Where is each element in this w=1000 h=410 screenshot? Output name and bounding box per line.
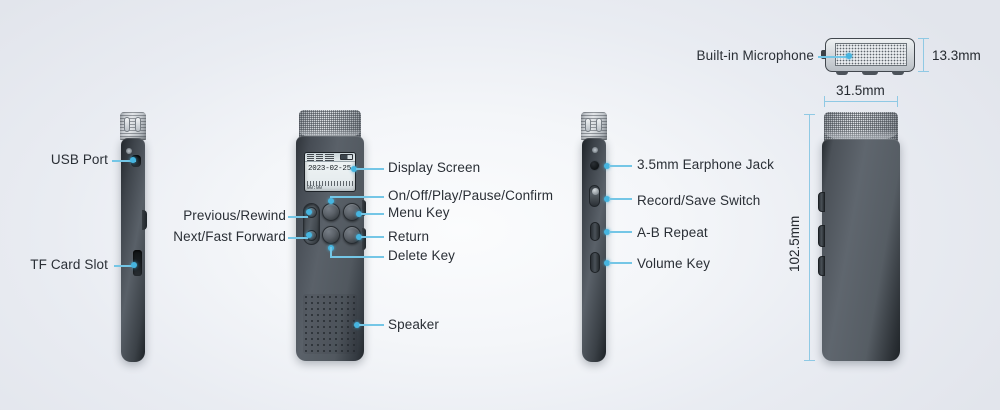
leader-power-horizontal <box>330 196 384 198</box>
label-previous-rewind: Previous/Rewind <box>182 209 286 224</box>
width-dim-line <box>824 101 898 102</box>
left-cap-slot-b <box>135 117 141 132</box>
earphone-jack[interactable] <box>589 160 600 171</box>
label-record-save-switch: Record/Save Switch <box>637 194 760 209</box>
height-dim-tick-top <box>804 114 815 115</box>
back-view-key-volume <box>818 225 825 247</box>
display-footer-text: 00:00 <box>307 185 322 191</box>
right-view-top-cap <box>581 112 607 140</box>
ab-repeat-key[interactable] <box>590 222 600 241</box>
leader-ab-repeat <box>609 231 632 233</box>
height-dim-tick-bottom <box>804 360 815 361</box>
label-built-in-microphone: Built-in Microphone <box>690 49 814 64</box>
right-view-indicator-led-icon <box>592 147 598 153</box>
microphone-shell <box>825 38 915 72</box>
height-dim-value: 102.5mm <box>787 216 802 272</box>
leader-delete-horizontal <box>330 256 384 258</box>
dot-built-in-microphone <box>846 53 852 59</box>
label-earphone-jack: 3.5mm Earphone Jack <box>637 158 774 173</box>
dot-tf-card-slot <box>131 262 137 268</box>
battery-icon <box>340 154 353 160</box>
leader-previous-rewind <box>288 216 308 218</box>
leader-speaker <box>359 324 384 326</box>
right-cap-slot-a <box>585 118 591 132</box>
left-view-key-bulge <box>142 210 147 230</box>
microphone-foot-left <box>836 71 848 75</box>
mic-thickness-dim-line <box>923 38 924 72</box>
label-display-screen: Display Screen <box>388 161 480 176</box>
dot-previous-rewind <box>306 209 312 215</box>
product-diagram-canvas: USB Port TF Card Slot 2023-02-25-11 00:0… <box>0 0 1000 410</box>
speaker-grille <box>303 294 357 354</box>
right-cap-slot-b <box>596 118 602 132</box>
mode-icon <box>325 154 334 161</box>
label-speaker: Speaker <box>388 318 439 333</box>
width-dim-tick-right <box>897 96 898 107</box>
label-volume-key: Volume Key <box>637 257 710 272</box>
label-ab-repeat: A-B Repeat <box>637 226 708 241</box>
back-view-key-extra <box>818 256 825 276</box>
mic-thickness-tick-top <box>918 38 929 39</box>
left-view-top-cap <box>120 112 146 140</box>
left-cap-slot-a <box>124 117 130 132</box>
leader-volume-key <box>609 262 632 264</box>
width-dim-value: 31.5mm <box>836 83 885 98</box>
leader-menu-key <box>361 213 384 215</box>
back-view-top-cap <box>824 112 898 142</box>
record-save-switch-knob[interactable] <box>592 188 599 195</box>
signal-icon <box>307 154 314 161</box>
mic-thickness-value: 13.3mm <box>932 48 981 63</box>
front-view-edge-nub-bottom <box>362 228 366 250</box>
display-screen[interactable]: 2023-02-25-11 00:00 <box>304 152 356 192</box>
back-view-body <box>822 139 900 361</box>
back-view-key-ab <box>818 192 825 212</box>
label-tf-card-slot: TF Card Slot <box>12 258 108 273</box>
microphone-foot-right <box>892 71 904 75</box>
dot-power-play-pause-confirm <box>328 198 334 204</box>
mic-thickness-tick-bottom <box>918 71 929 72</box>
dot-next-fast-forward <box>306 232 312 238</box>
left-view-indicator-led-icon <box>126 148 132 154</box>
width-dim-tick-left <box>824 96 825 107</box>
right-view-body <box>582 138 606 362</box>
microphone-foot-center <box>862 71 878 75</box>
power-play-pause-confirm-button[interactable] <box>322 203 340 221</box>
label-return-key: Return <box>388 230 429 245</box>
label-delete-key: Delete Key <box>388 249 455 264</box>
height-dim-line <box>809 114 810 361</box>
volume-key[interactable] <box>590 252 600 273</box>
leader-return-key <box>361 236 384 238</box>
leader-display-screen <box>356 168 384 170</box>
leader-next-fast-forward <box>288 237 308 239</box>
label-next-fast-forward: Next/Fast Forward <box>168 230 286 245</box>
label-menu-key: Menu Key <box>388 206 450 221</box>
leader-earphone-jack <box>609 165 632 167</box>
delete-key-button[interactable] <box>322 226 340 244</box>
display-status-bar <box>305 153 355 162</box>
record-save-switch[interactable] <box>589 185 600 207</box>
folder-icon <box>316 154 323 161</box>
label-usb-port: USB Port <box>20 153 108 168</box>
display-date-text: 2023-02-25-11 <box>305 162 355 174</box>
leader-record-save-switch <box>609 198 632 200</box>
dot-usb-port <box>130 157 136 163</box>
label-power-play-pause-confirm: On/Off/Play/Pause/Confirm <box>388 189 553 204</box>
